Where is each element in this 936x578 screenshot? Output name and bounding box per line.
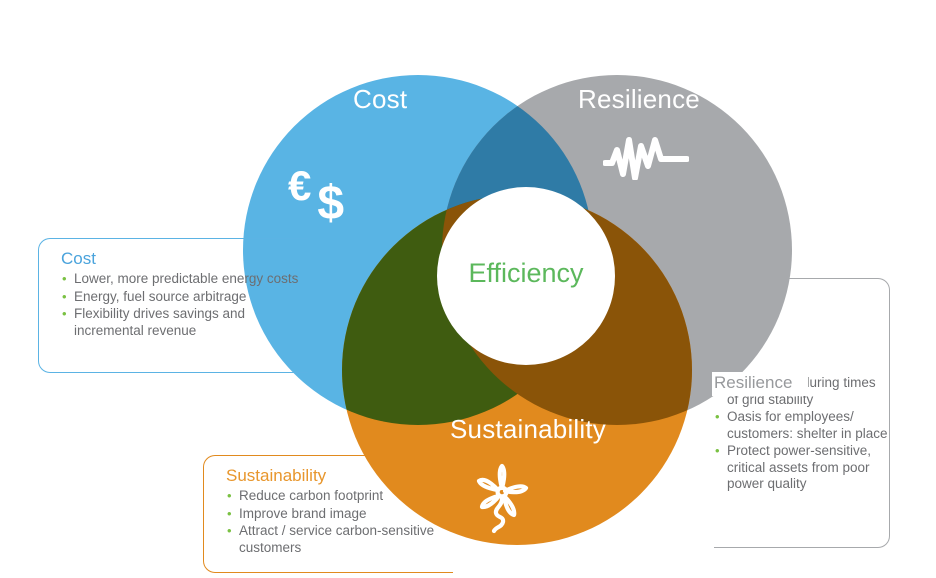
bullet-icon: • (227, 488, 232, 505)
euro-dollar-icon: €$ (288, 162, 344, 217)
list-item: • Lower, more predictable energy costs (61, 271, 308, 288)
list-item-text: Attract / service carbon-sensitive custo… (239, 523, 434, 555)
list-item: • Attract / service carbon-sensitive cus… (226, 523, 453, 556)
callout-cost[interactable]: Cost • Lower, more predictable energy co… (38, 238, 308, 373)
callout-resilience[interactable]: • Serve loads during times of grid stabi… (714, 278, 890, 548)
list-item: • Oasis for employees/ customers: shelte… (714, 409, 890, 442)
callout-resilience-title: Resilience (714, 372, 792, 394)
callout-sustainability-title: Sustainability (226, 465, 453, 487)
circle-label-cost: Cost (353, 84, 407, 115)
list-item-text: Flexibility drives savings and increment… (74, 306, 245, 338)
venn-diagram-slide: Cost Resilience Sustainability Efficienc… (0, 0, 936, 578)
bullet-icon: • (715, 443, 720, 460)
list-item: • Improve brand image (226, 506, 453, 523)
callout-cost-title: Cost (61, 248, 308, 270)
list-item-text: Reduce carbon footprint (239, 488, 383, 503)
bullet-icon: • (715, 409, 720, 426)
list-item-text: Oasis for employees/ customers: shelter … (727, 409, 888, 441)
list-item-text: Lower, more predictable energy costs (74, 271, 298, 286)
circle-label-sustainability: Sustainability (450, 414, 606, 445)
callout-sustainability-list: • Reduce carbon footprint • Improve bran… (226, 488, 453, 556)
circle-label-resilience: Resilience (578, 84, 700, 115)
list-item: • Energy, fuel source arbitrage (61, 289, 308, 306)
bullet-icon: • (62, 289, 67, 306)
list-item: • Protect power-sensitive, critical asse… (714, 443, 890, 493)
callout-sustainability[interactable]: Sustainability • Reduce carbon footprint… (203, 455, 453, 573)
list-item-text: Improve brand image (239, 506, 367, 521)
list-item: • Reduce carbon footprint (226, 488, 453, 505)
pulse-waveform-icon (603, 132, 689, 180)
euro-icon: € (288, 162, 311, 209)
center-label-efficiency: Efficiency (446, 258, 606, 289)
list-item-text: Energy, fuel source arbitrage (74, 289, 246, 304)
flower-icon (466, 458, 538, 538)
bullet-icon: • (62, 271, 67, 288)
bullet-icon: • (227, 523, 232, 540)
dollar-icon: $ (317, 177, 344, 230)
bullet-icon: • (62, 306, 67, 323)
list-item-text: Protect power-sensitive, critical assets… (727, 443, 871, 491)
callout-cost-list: • Lower, more predictable energy costs •… (61, 271, 308, 339)
list-item: • Flexibility drives savings and increme… (61, 306, 308, 339)
bullet-icon: • (227, 506, 232, 523)
